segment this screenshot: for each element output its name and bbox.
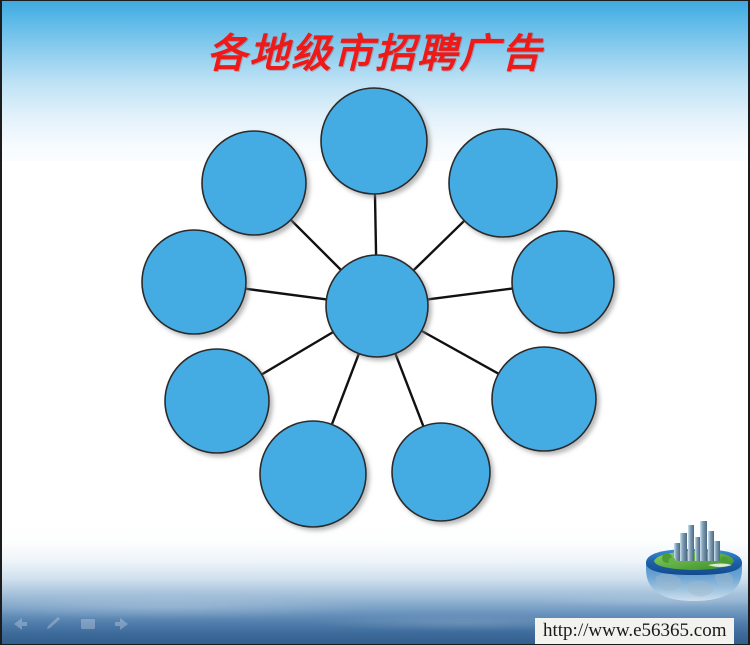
presentation-slide: 各地级市招聘广告	[0, 0, 750, 645]
arrow-left-icon[interactable]	[10, 616, 30, 632]
pen-icon[interactable]	[44, 616, 64, 632]
diagram-node-upper-left[interactable]	[202, 131, 306, 235]
diagram-node-upper-right[interactable]	[449, 129, 557, 237]
diagram-node-top[interactable]	[321, 88, 427, 194]
connector-left	[242, 288, 331, 300]
diagram-node-lower-right[interactable]	[492, 347, 596, 451]
connector-lower-left	[258, 330, 336, 376]
diagram-center-circle[interactable]	[326, 255, 428, 357]
city-skyline	[674, 521, 720, 561]
diagram-node-left[interactable]	[142, 230, 246, 334]
connector-right	[424, 288, 517, 300]
diagram-node-bottom-right[interactable]	[392, 423, 490, 521]
connector-bottom-left	[330, 350, 360, 428]
diagram-node-right[interactable]	[512, 231, 614, 333]
connector-lower-right	[418, 329, 502, 376]
slideshow-nav-controls[interactable]	[10, 616, 132, 632]
connector-top	[375, 190, 376, 259]
connector-bottom-right	[394, 350, 425, 430]
globe-city-logo	[634, 517, 750, 607]
connector-upper-right	[411, 218, 468, 273]
arrow-right-icon[interactable]	[112, 616, 132, 632]
site-watermark: http://www.e56365.com	[535, 618, 734, 645]
diagram-center-node[interactable]	[326, 255, 428, 357]
square-icon[interactable]	[78, 616, 98, 632]
diagram-node-bottom-left[interactable]	[260, 421, 366, 527]
diagram-node-lower-left[interactable]	[165, 349, 269, 453]
connector-upper-left	[288, 217, 344, 273]
